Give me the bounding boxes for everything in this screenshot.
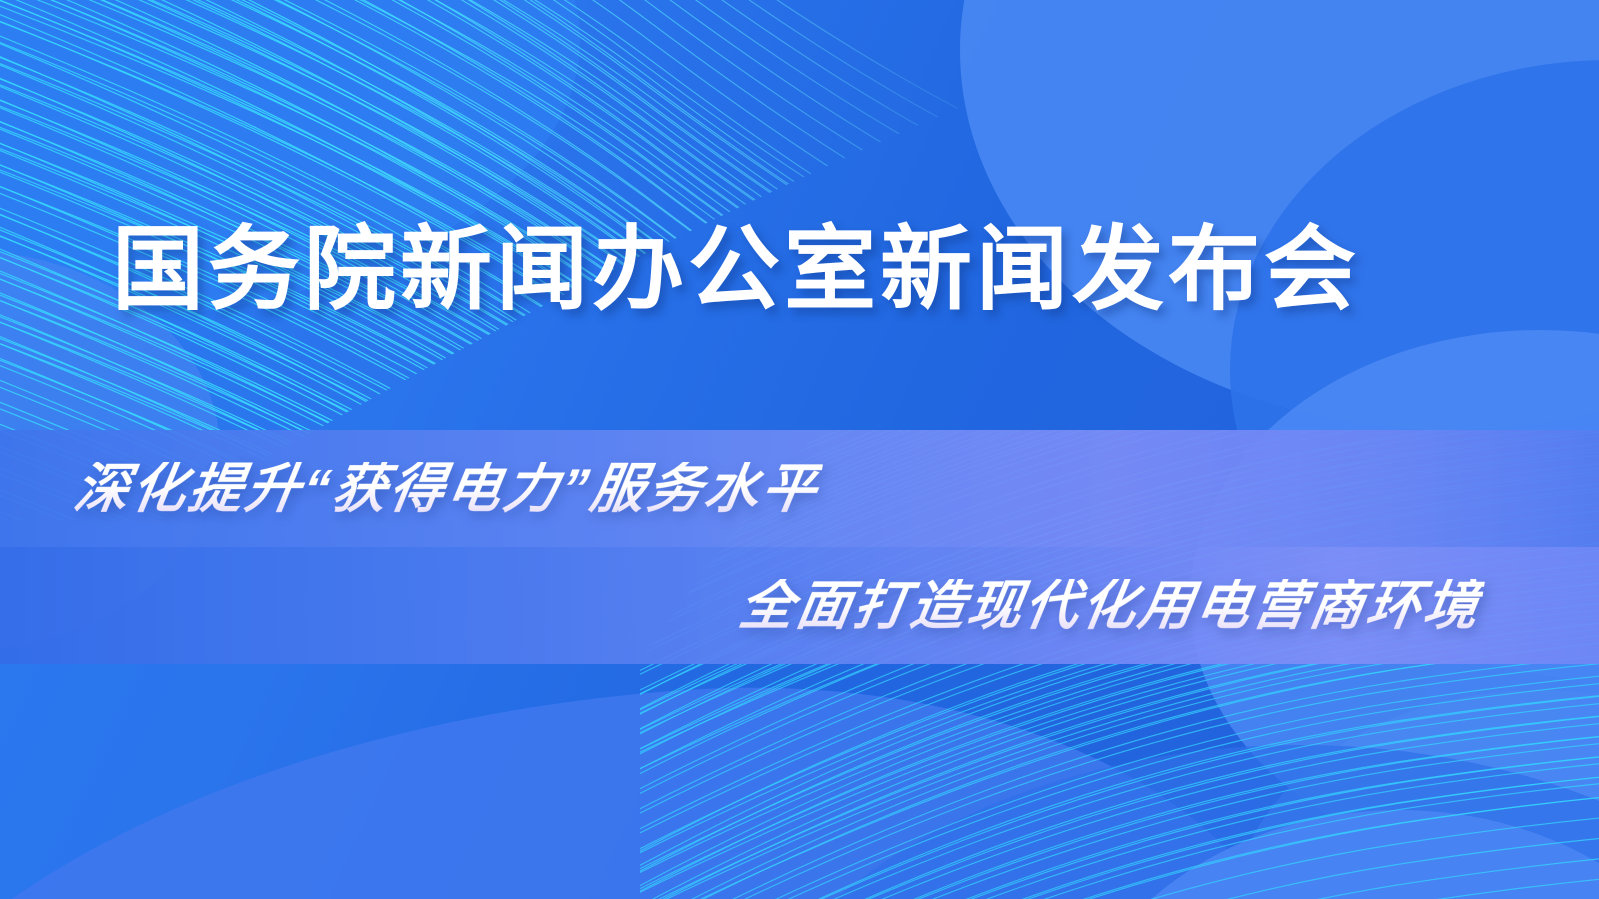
sweep-bottom-right-icon [700, 745, 1599, 899]
subtitle-line-2: 全面打造现代化用电营商环境 [736, 579, 1486, 633]
news-conference-poster: 国务院新闻办公室新闻发布会 深化提升“获得电力”服务水平 全面打造现代化用电营商… [0, 0, 1599, 899]
sweep-bottom-right-accent-icon [1050, 810, 1599, 899]
subtitle-band-1: 深化提升“获得电力”服务水平 [0, 430, 1599, 547]
blob-right-lower-icon [1230, 690, 1599, 899]
page-title: 国务院新闻办公室新闻发布会 [112, 224, 1360, 316]
sweep-bottom-icon [0, 648, 1314, 899]
subtitle-band-2: 全面打造现代化用电营商环境 [0, 547, 1599, 664]
subtitle-line-1: 深化提升“获得电力”服务水平 [71, 462, 824, 516]
blob-top-right-icon [960, 0, 1599, 430]
